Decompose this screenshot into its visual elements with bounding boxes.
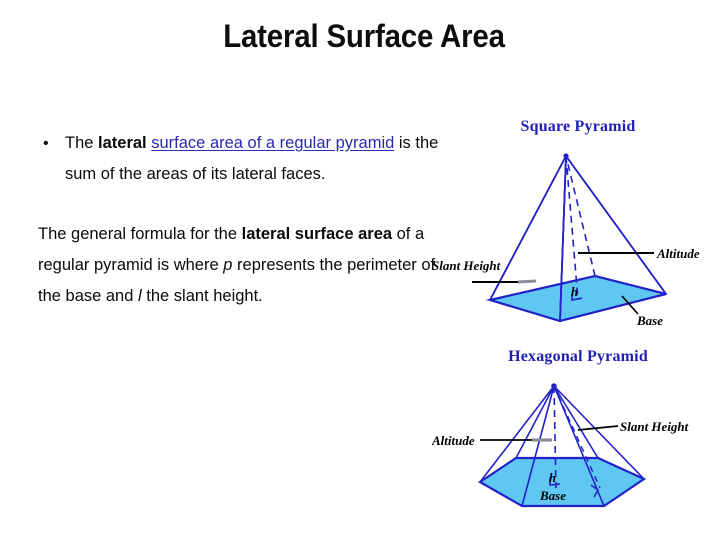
label-hex-altitude: Altitude <box>432 433 475 448</box>
bullet-paragraph-1: •The lateral surface area of a regular p… <box>38 128 458 190</box>
square-pyramid-edge-left <box>490 156 566 300</box>
figure-hexagonal-pyramid: Hexagonal Pyramid h Altitude Slant Heigh… <box>432 348 724 544</box>
para1-text-pre: The <box>65 134 98 152</box>
label-hex-base: Base <box>539 488 566 503</box>
figure-square-pyramid: Square Pyramid h Slant Height Altitude <box>432 118 724 340</box>
hyperlink-surface-area-regular-pyramid[interactable]: surface area of a regular pyramid <box>151 134 394 152</box>
bullet-icon: • <box>43 128 49 159</box>
slide-body: •The lateral surface area of a regular p… <box>38 128 458 312</box>
hexagonal-pyramid-apex-point <box>551 383 557 389</box>
hex-slant-height-leader-line <box>578 426 618 430</box>
label-altitude: Altitude <box>656 246 700 261</box>
square-pyramid-edge-right <box>566 156 666 294</box>
page-title: Lateral Surface Area <box>29 18 699 55</box>
para2-text-pre: The general formula for the <box>38 225 242 243</box>
hex-edge-3 <box>554 386 598 458</box>
label-slant-height: Slant Height <box>432 258 501 273</box>
square-pyramid-height-mark: h <box>571 285 578 299</box>
square-pyramid-apex-point <box>563 153 568 158</box>
para2-bold-lateral-surface-area: lateral surface area <box>242 225 392 243</box>
square-pyramid-illustration: h Slant Height Altitude Base <box>432 118 724 340</box>
label-base: Base <box>636 313 663 328</box>
para1-bold-lateral: lateral <box>98 134 147 152</box>
hexagonal-pyramid-illustration: h Altitude Slant Height Base <box>432 348 724 544</box>
paragraph-2: The general formula for the lateral surf… <box>38 219 458 312</box>
slant-height-marker <box>518 281 536 282</box>
label-hex-slant-height: Slant Height <box>620 419 689 434</box>
hex-edge-2 <box>516 386 554 458</box>
hexagonal-pyramid-height-mark: h <box>549 471 556 485</box>
para2-text-post: the slant height. <box>142 287 263 305</box>
